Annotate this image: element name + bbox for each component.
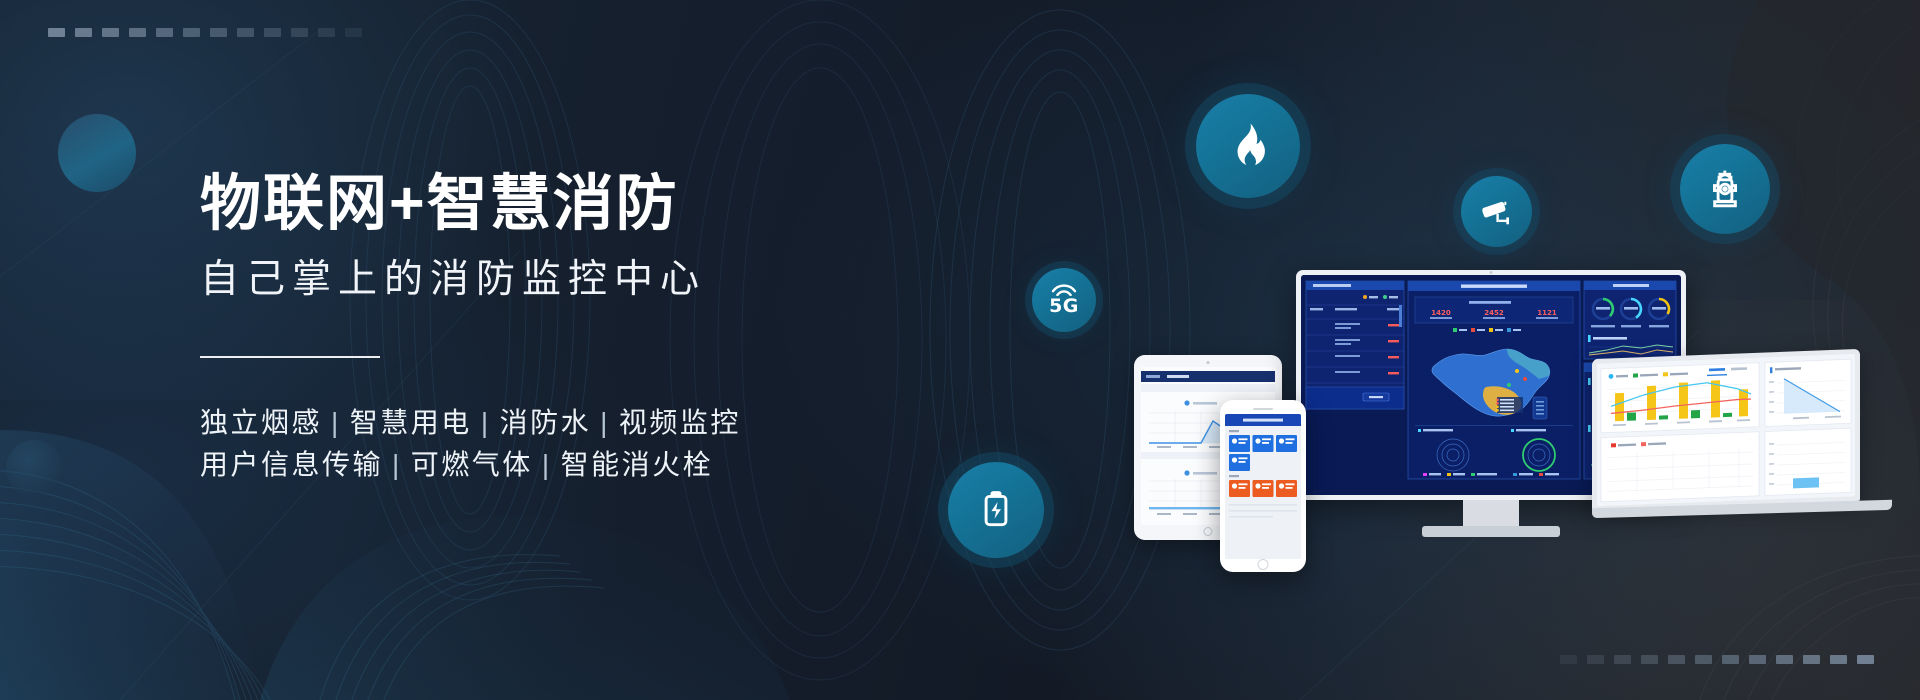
- battery-bolt-icon-badge[interactable]: [948, 462, 1044, 558]
- svg-text:1121: 1121: [1537, 309, 1557, 317]
- hero-text-block: 物联网+智慧消防 自己掌上的消防监控中心 独立烟感|智慧用电|消防水|视频监控用…: [200, 168, 960, 487]
- decor-dash: [1749, 655, 1766, 664]
- monitor-stand-foot: [1422, 526, 1560, 537]
- feature-item: 独立烟感: [200, 407, 322, 438]
- decor-dash: [1776, 655, 1793, 664]
- decor-dash: [183, 28, 200, 37]
- hero-banner: 物联网+智慧消防 自己掌上的消防监控中心 独立烟感|智慧用电|消防水|视频监控用…: [0, 0, 1920, 700]
- svg-text:1420: 1420: [1431, 309, 1451, 317]
- cctv-camera-icon-badge[interactable]: [1461, 176, 1532, 247]
- decor-dash: [48, 28, 65, 37]
- five-g-icon: 5G: [1049, 283, 1079, 317]
- fire-hydrant-icon: [1702, 166, 1748, 212]
- title-divider: [200, 356, 380, 358]
- decor-dash: [1803, 655, 1820, 664]
- decor-dash: [318, 28, 335, 37]
- device-mockup-cluster: 142024521121: [1110, 278, 1870, 568]
- decorative-orb-small: [6, 440, 62, 496]
- decor-dash: [156, 28, 173, 37]
- feature-line-1: 独立烟感|智慧用电|消防水|视频监控: [200, 402, 960, 445]
- phone-screen: [1225, 414, 1301, 559]
- monitor-stand-neck: [1463, 500, 1519, 526]
- decor-dash: [291, 28, 308, 37]
- feature-separator: |: [591, 407, 619, 438]
- decor-dash: [75, 28, 92, 37]
- laptop-screen: [1597, 354, 1855, 506]
- feature-item: 可燃气体: [411, 449, 533, 480]
- decor-dash: [1641, 655, 1658, 664]
- smartphone-device[interactable]: [1220, 400, 1306, 572]
- decor-dash: [210, 28, 227, 37]
- cctv-camera-icon: [1479, 194, 1515, 230]
- page-subtitle: 自己掌上的消防监控中心: [200, 257, 960, 304]
- tablet-camera-dot: [1207, 361, 1210, 364]
- fire-hydrant-icon-badge[interactable]: [1680, 144, 1770, 234]
- phone-speaker: [1253, 408, 1273, 410]
- laptop-device[interactable]: [1592, 354, 1892, 544]
- decor-dash: [1695, 655, 1712, 664]
- decorative-orb-teal: [58, 114, 136, 192]
- tablet-home-button[interactable]: [1204, 527, 1213, 536]
- feature-item: 智能消火栓: [561, 449, 714, 480]
- decor-dash: [264, 28, 281, 37]
- svg-text:2452: 2452: [1484, 309, 1504, 317]
- feature-item: 消防水: [500, 407, 592, 438]
- phone-app-graphic: [1225, 414, 1301, 559]
- feature-separator: |: [322, 407, 350, 438]
- decor-dash: [1587, 655, 1604, 664]
- phone-home-button[interactable]: [1258, 559, 1269, 570]
- flame-icon: [1222, 120, 1274, 172]
- feature-separator: |: [533, 449, 561, 480]
- five-g-icon-badge[interactable]: 5G: [1032, 268, 1096, 332]
- five-g-label: 5G: [1049, 295, 1079, 317]
- decor-dash: [1560, 655, 1577, 664]
- page-title: 物联网+智慧消防: [200, 168, 960, 239]
- feature-list: 独立烟感|智慧用电|消防水|视频监控用户信息传输|可燃气体|智能消火栓: [200, 402, 960, 487]
- decor-dash: [345, 28, 362, 37]
- feature-item: 用户信息传输: [200, 449, 383, 480]
- decor-dash-row-top: [48, 28, 362, 37]
- decor-dash: [1830, 655, 1847, 664]
- feature-separator: |: [383, 449, 411, 480]
- flame-icon-badge[interactable]: [1196, 94, 1300, 198]
- monitor-camera-dot: [1490, 271, 1493, 274]
- feature-item: 智慧用电: [350, 407, 472, 438]
- feature-item: 视频监控: [619, 407, 741, 438]
- decor-dash: [1614, 655, 1631, 664]
- decor-dash: [129, 28, 146, 37]
- laptop-dashboard-graphic: [1597, 354, 1855, 506]
- feature-line-2: 用户信息传输|可燃气体|智能消火栓: [200, 444, 960, 487]
- decor-dash: [1668, 655, 1685, 664]
- decor-dash: [1722, 655, 1739, 664]
- decor-dash: [1857, 655, 1874, 664]
- feature-separator: |: [472, 407, 500, 438]
- laptop-lid: [1592, 349, 1860, 511]
- decor-dash: [237, 28, 254, 37]
- battery-bolt-icon: [974, 488, 1018, 532]
- decor-dash-row-bottom: [1560, 655, 1874, 664]
- decor-dash: [102, 28, 119, 37]
